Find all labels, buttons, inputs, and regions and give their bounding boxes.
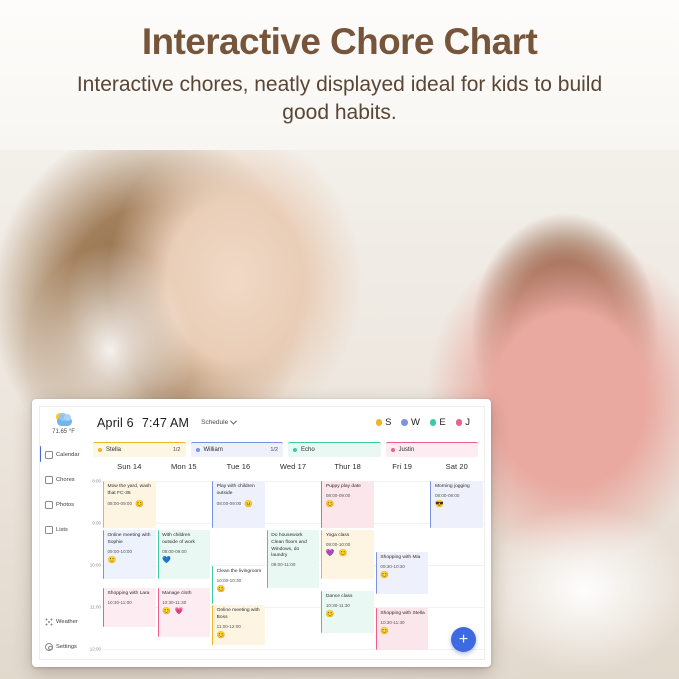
person-color-dot [98,448,102,452]
event-meta: 08:00-09:00😊 [108,499,153,508]
member-color-dot [430,419,437,426]
sidebar-item-lists[interactable]: Lists [40,517,87,542]
event-title: Yoga class [326,533,371,540]
calendar-day-column[interactable]: Puppy play date08:00-09:00😊Yoga class09:… [320,477,375,659]
person-color-dot [196,448,200,452]
member-chip-e[interactable]: E [430,417,446,428]
calendar-event[interactable]: Manage cloth10:30-11:30😊 💗 [158,588,211,637]
grid-line [157,523,212,524]
member-initial: S [385,417,391,428]
event-title: Puppy play date [326,484,371,491]
grid-line [266,481,321,482]
grid-line [211,649,266,650]
member-filter-list: SWEJ [376,417,484,428]
grid-line [157,649,212,650]
time-label: 12:00 [90,647,101,652]
sidebar-item-settings[interactable]: Settings [40,634,87,659]
page-subtitle: Interactive chores, neatly displayed ide… [0,71,679,128]
time-label: 8:00 [92,479,101,484]
time-label: 9:00 [92,521,101,526]
sidebar-item-calendar[interactable]: Calendar [40,442,87,467]
member-color-dot [401,419,408,426]
calendar-columns: Mow the yard, wash that FC-3508:00-09:00… [102,477,484,659]
sidebar-item-chores[interactable]: Chores [40,467,87,492]
sidebar-item-photos[interactable]: Photos [40,492,87,517]
grid-line [266,649,321,650]
sidebar-item-weather[interactable]: Weather [40,609,87,634]
hero-banner: Interactive Chore Chart Interactive chor… [0,0,679,150]
calendar-day-column[interactable]: Play with children outside08:00-09:00😐Cl… [211,477,266,659]
event-time: 10:30-11:30 [326,603,371,609]
view-selector-label: Schedule [201,419,228,426]
member-color-dot [376,419,383,426]
calendar-event[interactable]: Play with children outside08:00-09:00😐 [212,481,265,528]
event-title: Shopping with Mia [380,555,425,562]
person-tab-list: Stella1/2William1/2EchoJustin [87,438,484,462]
view-selector[interactable]: Schedule [201,419,236,426]
app-top-bar: 71.65 °F April 6 7:47 AM Schedule SWEJ [40,407,484,438]
event-emoji: 😊 [326,501,371,508]
current-date: April 6 [97,416,134,430]
event-time: 10:30-11:30 [162,600,207,606]
person-tab-justin[interactable]: Justin [386,442,479,457]
event-title: Do housework Clean floors and Windows, d… [271,533,316,560]
photos-icon [45,501,53,509]
chevron-down-icon [230,418,237,425]
temperature-label: 71.65 °F [52,429,75,435]
calendar-event[interactable]: Clean the livingroom10:00-10:30😊 [212,566,265,604]
event-emoji: 😊 [217,586,262,593]
event-meta: 08:00-09:00😐 [217,499,262,508]
sidebar-item-label: Lists [56,527,68,533]
event-emoji: 😊 [326,611,371,618]
calendar-day-column[interactable]: Do housework Clean floors and Windows, d… [266,477,321,659]
event-emoji: 😊 [217,632,262,639]
main-content: Stella1/2William1/2EchoJustin Sun 14Mon … [87,438,484,659]
weather-icon [45,618,53,626]
calendar-day-column[interactable]: With children outside of work08:00-09:00… [157,477,212,659]
event-time: 08:00-09:00 [108,501,133,507]
event-title: Play with children outside [217,484,262,498]
event-title: Manage cloth [162,591,207,598]
grid-line [429,565,484,566]
calendar-icon [45,451,53,459]
event-emoji: 😎 [435,501,480,508]
sidebar-spacer [40,542,87,609]
event-title: Online meeting with Boss [217,608,262,622]
grid-line [375,481,430,482]
event-emoji: 😊 [135,501,145,508]
event-title: Morning jogging [435,484,480,491]
calendar-grid: 8:009:0010:0011:0012:00 Mow the yard, wa… [89,477,484,659]
current-time: 7:47 AM [142,416,189,430]
member-chip-j[interactable]: J [456,417,470,428]
event-title: With children outside of work [162,533,207,547]
calendar-event[interactable]: Shopping with Stella10:30-11:30😊 [376,608,429,650]
event-title: Shopping with Stella [380,611,425,618]
gear-icon [45,643,53,651]
person-chore-count: 1/2 [173,447,181,453]
event-time: 09:30-10:30 [380,564,425,570]
event-emoji: 😊 [380,572,425,579]
sidebar-item-label: Chores [56,477,75,483]
time-label: 11:00 [90,605,101,610]
event-time: 08:00-09:00 [162,549,207,555]
event-emoji: 💜 😊 [326,550,371,557]
person-name: Justin [399,447,415,453]
event-title: Clean the livingroom [217,569,262,576]
person-tab-stella[interactable]: Stella1/2 [93,442,186,457]
time-axis: 8:009:0010:0011:0012:00 [89,477,102,659]
event-title: Shopping with Lara [108,591,153,598]
grid-line [266,607,321,608]
calendar-event[interactable]: Shopping with Lara10:30-11:00 [103,588,156,627]
grid-line [320,649,375,650]
sidebar-item-label: Photos [56,502,74,508]
sidebar-item-label: Calendar [56,452,80,458]
sidebar: CalendarChoresPhotosLists WeatherSetting… [40,438,87,659]
event-time: 10:30-11:30 [380,620,425,626]
calendar-event[interactable]: Morning jogging08:00-09:00😎 [430,481,483,528]
calendar-day-label[interactable]: Sun 14 [102,462,157,477]
member-color-dot [456,419,463,426]
event-time: 08:00-09:00 [326,493,371,499]
event-time: 09:00-11:00 [271,562,316,568]
calendar-day-header: Sun 14Mon 15Tue 16Wed 17Thur 18Fri 19Sat… [89,462,484,477]
calendar-view: Sun 14Mon 15Tue 16Wed 17Thur 18Fri 19Sat… [87,462,484,659]
event-time: 09:00-10:00 [326,542,371,548]
sidebar-item-label: Settings [56,644,77,650]
calendar-event[interactable]: Shopping with Mia09:30-10:30😊 [376,552,429,594]
event-time: 09:00-10:00 [108,549,153,555]
person-tab-william[interactable]: William1/2 [191,442,284,457]
calendar-day-label[interactable]: Thur 18 [320,462,375,477]
event-emoji: 💙 [162,557,207,564]
tablet-device: 71.65 °F April 6 7:47 AM Schedule SWEJ C… [32,399,491,667]
event-emoji: 😐 [244,501,254,508]
sun-cloud-icon [54,413,74,427]
top-bar-main: April 6 7:47 AM Schedule [87,416,376,430]
calendar-event[interactable]: With children outside of work08:00-09:00… [158,530,211,579]
calendar-day-column[interactable]: Mow the yard, wash that FC-3508:00-09:00… [102,477,157,659]
tablet-screen: 71.65 °F April 6 7:47 AM Schedule SWEJ C… [39,406,485,660]
event-time: 08:00-09:00 [217,501,242,507]
member-initial: W [411,417,420,428]
person-tab-echo[interactable]: Echo [288,442,381,457]
event-title: Mow the yard, wash that FC-35 [108,484,153,498]
lists-icon [45,526,53,534]
app-body: CalendarChoresPhotosLists WeatherSetting… [40,438,484,659]
event-time: 10:30-11:00 [108,600,153,606]
time-label: 10:00 [90,563,101,568]
weather-widget[interactable]: 71.65 °F [40,411,87,435]
calendar-event[interactable]: Do housework Clean floors and Windows, d… [267,530,320,588]
event-title: Online meeting with Sophie [108,533,153,547]
event-time: 10:00-10:30 [217,578,262,584]
calendar-event[interactable]: Dance class10:30-11:30😊 [321,591,374,633]
grid-line [157,481,212,482]
person-name: William [204,447,223,453]
member-initial: J [465,417,470,428]
calendar-day-label[interactable]: Mon 15 [157,462,212,477]
calendar-day-label[interactable]: Fri 19 [375,462,430,477]
event-time: 11:00-12:00 [217,624,262,630]
calendar-day-label[interactable]: Wed 17 [266,462,321,477]
grid-line [375,523,430,524]
person-color-dot [293,448,297,452]
event-time: 08:00-09:00 [435,493,480,499]
add-event-button[interactable]: + [451,627,476,652]
calendar-day-label[interactable]: Tue 16 [211,462,266,477]
grid-line [266,523,321,524]
sidebar-item-label: Weather [56,619,78,625]
calendar-event[interactable]: Online meeting with Sophie09:00-10:00🙂 [103,530,156,579]
event-title: Dance class [326,594,371,601]
grid-line [102,649,157,650]
member-chip-s[interactable]: S [376,417,392,428]
calendar-event[interactable]: Yoga class09:00-10:00💜 😊 [321,530,374,579]
member-initial: E [439,417,445,428]
event-emoji: 😊 💗 [162,608,207,615]
event-emoji: 🙂 [108,557,153,564]
grid-line [429,607,484,608]
person-name: Stella [106,447,121,453]
person-chore-count: 1/2 [270,447,278,453]
member-chip-w[interactable]: W [401,417,419,428]
calendar-day-label[interactable]: Sat 20 [429,462,484,477]
calendar-day-column[interactable]: Shopping with Mia09:30-10:30😊Shopping wi… [375,477,430,659]
calendar-event[interactable]: Puppy play date08:00-09:00😊 [321,481,374,528]
page-title: Interactive Chore Chart [0,22,679,63]
person-color-dot [391,448,395,452]
chores-icon [45,476,53,484]
person-name: Echo [301,447,315,453]
event-emoji: 😊 [380,628,425,635]
calendar-event[interactable]: Online meeting with Boss11:00-12:00😊 [212,605,265,645]
calendar-event[interactable]: Mow the yard, wash that FC-3508:00-09:00… [103,481,156,528]
